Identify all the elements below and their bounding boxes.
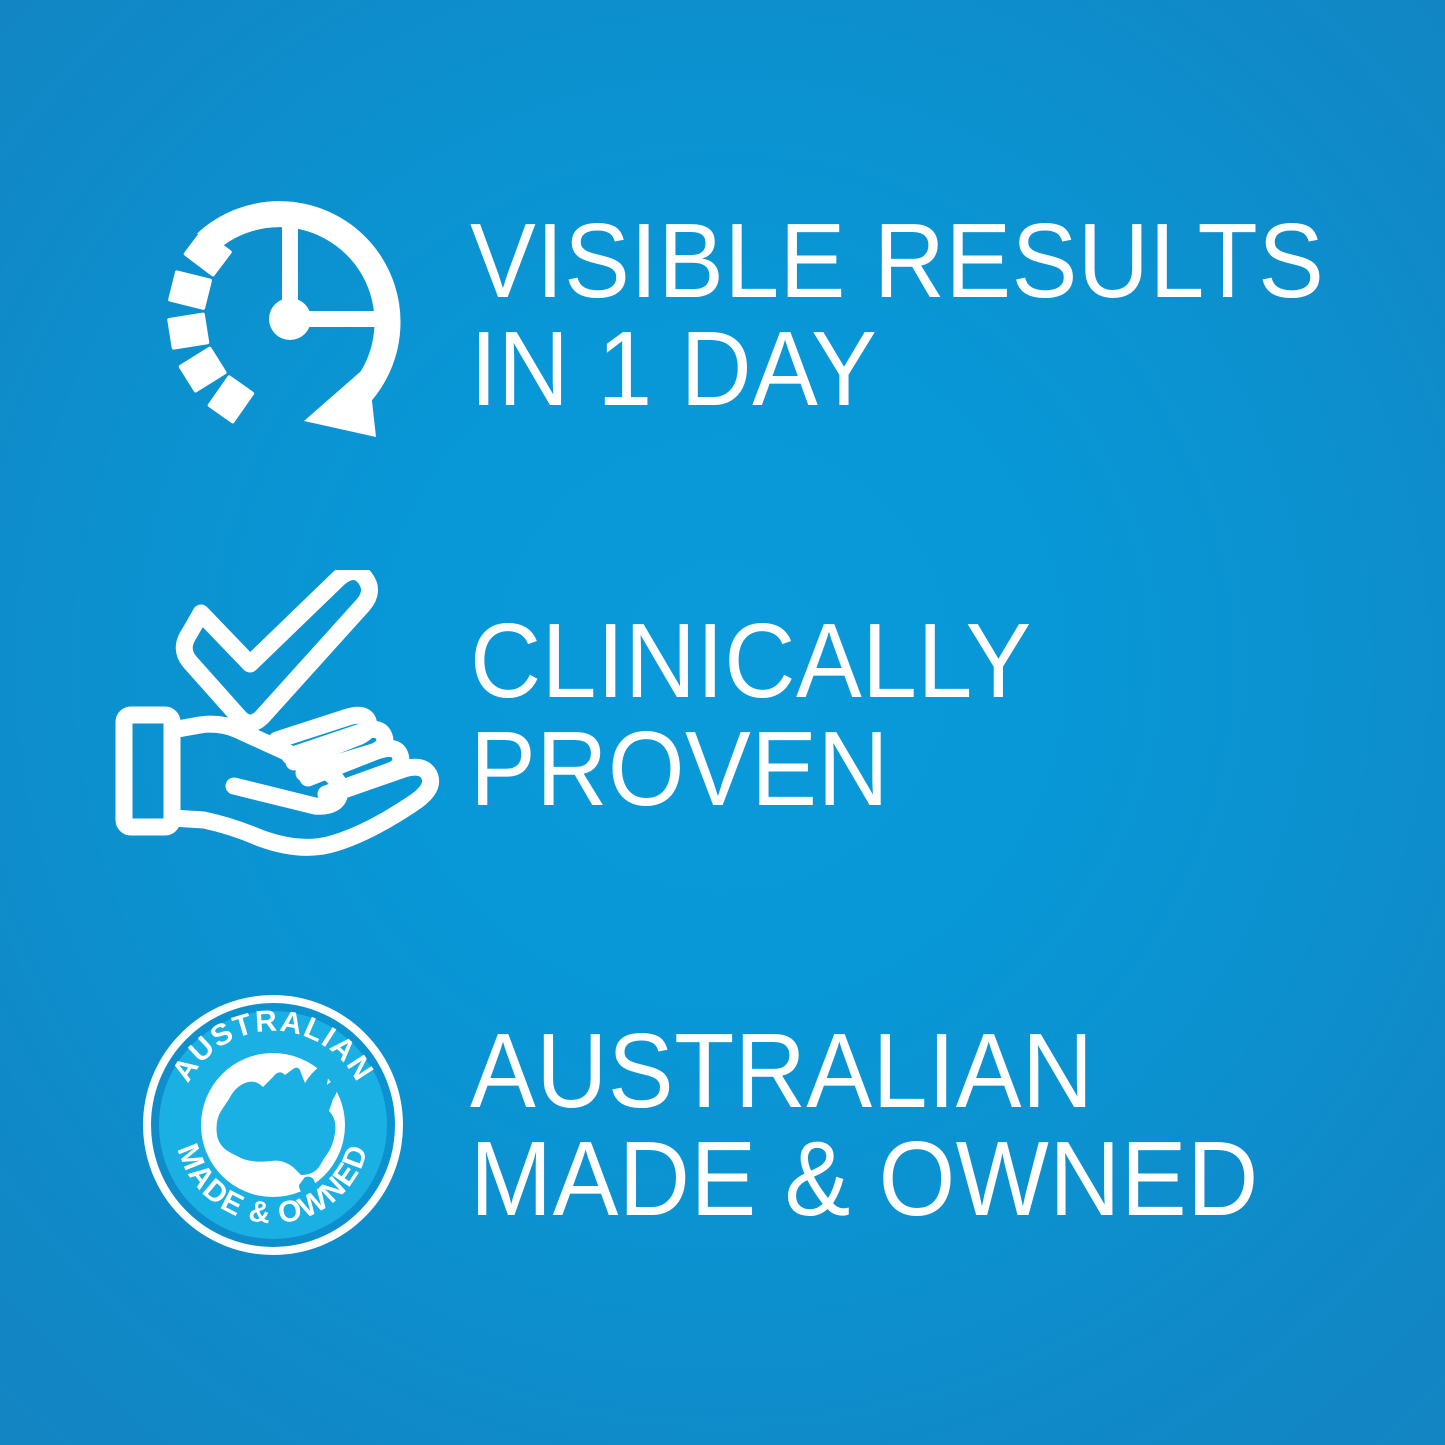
benefit-text-visible-results: VISIBLE RESULTS IN 1 DAY — [470, 207, 1377, 423]
benefit-icon-cell-australian-made: AUSTRALIAN MADE & OWNED — [0, 975, 470, 1275]
benefit-line-1: AUSTRALIAN — [470, 1017, 1377, 1125]
clock-arrowhead-icon — [304, 365, 376, 437]
checkmark-outline-icon — [184, 572, 369, 724]
clock-dashed-segments — [167, 229, 255, 424]
benefit-row-visible-results: VISIBLE RESULTS IN 1 DAY — [0, 150, 1445, 480]
benefits-panel: VISIBLE RESULTS IN 1 DAY — [0, 0, 1445, 1445]
benefit-line-2: PROVEN — [470, 715, 1377, 823]
benefit-row-clinically-proven: CLINICALLY PROVEN — [0, 565, 1445, 865]
benefit-rows: VISIBLE RESULTS IN 1 DAY — [0, 0, 1445, 1445]
australian-made-owned-badge-icon: AUSTRALIAN MADE & OWNED — [143, 995, 403, 1255]
benefit-text-clinically-proven: CLINICALLY PROVEN — [470, 607, 1377, 823]
benefit-row-australian-made: AUSTRALIAN MADE & OWNED AUSTRALIAN MADE … — [0, 975, 1445, 1275]
benefit-line-1: VISIBLE RESULTS — [470, 207, 1377, 315]
benefit-line-2: MADE & OWNED — [470, 1125, 1377, 1233]
benefit-icon-cell-clinically-proven — [0, 565, 470, 865]
benefit-icon-cell-visible-results — [0, 150, 470, 480]
benefit-text-australian-made: AUSTRALIAN MADE & OWNED — [470, 1017, 1377, 1233]
hand-checkmark-icon — [112, 570, 452, 860]
clock-arrow-icon — [140, 165, 440, 465]
benefit-line-1: CLINICALLY — [470, 607, 1377, 715]
benefit-line-2: IN 1 DAY — [470, 315, 1377, 423]
